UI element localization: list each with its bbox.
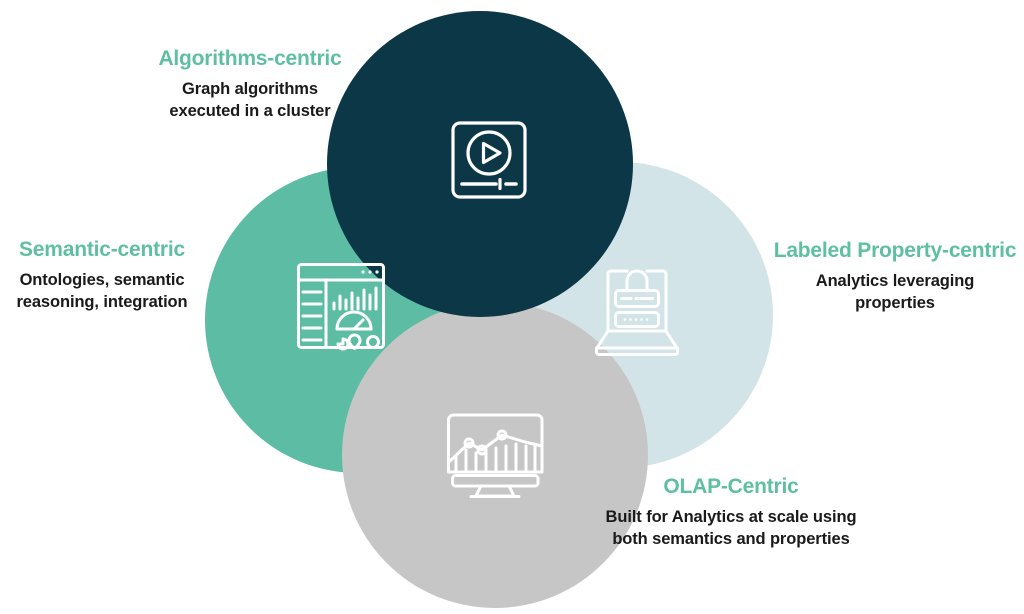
label-property-title: Labeled Property-centric bbox=[766, 238, 1024, 264]
diagram-canvas: Algorithms-centric Graph algorithms exec… bbox=[0, 0, 1024, 614]
label-olap-title: OLAP-Centric bbox=[566, 474, 896, 500]
label-labeled-property-centric: Labeled Property-centric Analytics lever… bbox=[766, 238, 1024, 315]
label-semantic-desc-line1: Ontologies, semantic bbox=[0, 270, 212, 292]
label-property-desc-line2: properties bbox=[766, 293, 1024, 315]
label-semantic-desc-line2: reasoning, integration bbox=[0, 292, 212, 314]
label-algorithms-centric: Algorithms-centric Graph algorithms exec… bbox=[80, 46, 420, 123]
label-property-desc-line1: Analytics leveraging bbox=[766, 271, 1024, 293]
label-olap-desc-line1: Built for Analytics at scale using bbox=[566, 507, 896, 529]
label-algorithms-desc-line2: executed in a cluster bbox=[80, 101, 420, 123]
label-olap-desc-line2: both semantics and properties bbox=[566, 529, 896, 551]
label-semantic-title: Semantic-centric bbox=[0, 237, 212, 263]
label-semantic-centric: Semantic-centric Ontologies, semantic re… bbox=[0, 237, 212, 314]
label-olap-centric: OLAP-Centric Built for Analytics at scal… bbox=[566, 474, 896, 551]
label-algorithms-title: Algorithms-centric bbox=[80, 46, 420, 72]
label-algorithms-desc-line1: Graph algorithms bbox=[80, 79, 420, 101]
